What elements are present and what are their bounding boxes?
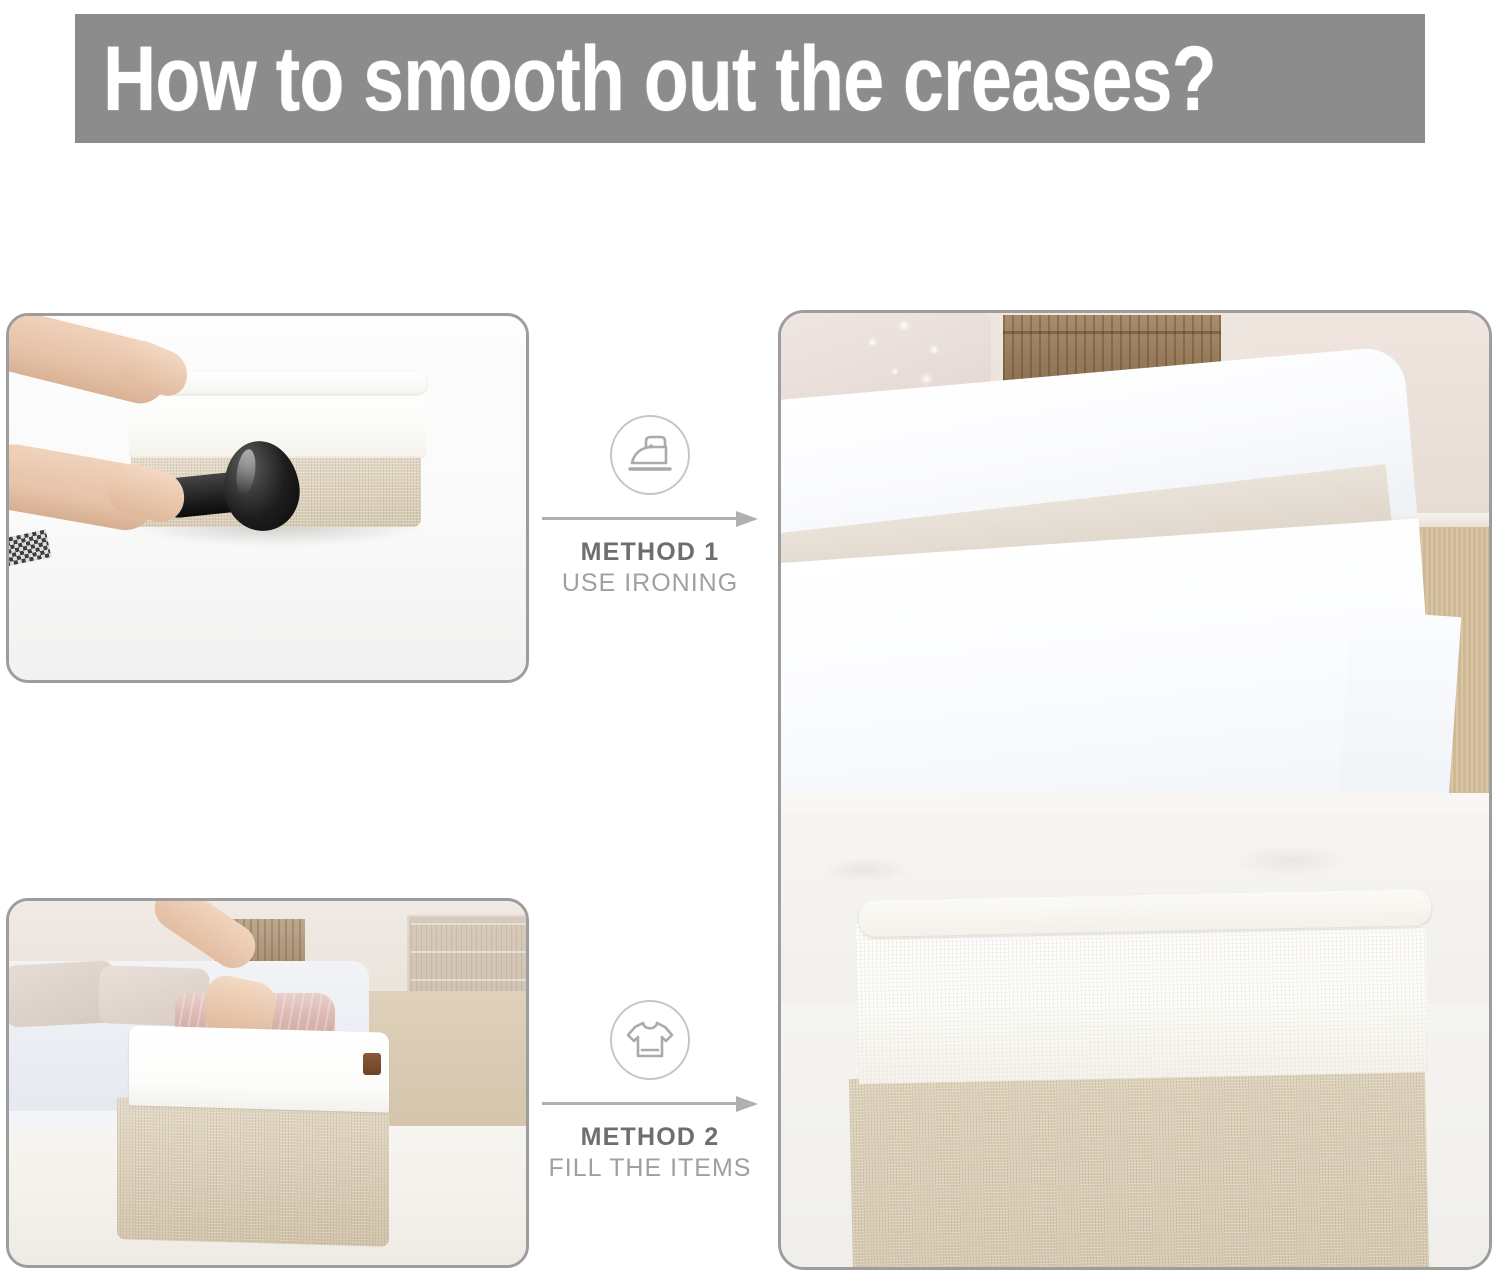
filling-scene (9, 901, 526, 1265)
arrow-head (736, 511, 758, 527)
method-2-subtitle: FILL THE ITEMS (535, 1153, 765, 1184)
page-title: How to smooth out the creases? (75, 33, 1216, 125)
basket-white-body (129, 1025, 389, 1112)
ironing-photo-panel (6, 313, 529, 683)
method-1-block: METHOD 1 USE IRONING (535, 415, 765, 600)
basket-beige-body (117, 1097, 389, 1247)
tshirt-icon (610, 1000, 690, 1080)
arrow-shaft (542, 1102, 738, 1105)
iron-icon (610, 415, 690, 495)
filling-photo-panel (6, 898, 529, 1268)
result-photo-panel (778, 310, 1492, 1270)
title-banner: How to smooth out the creases? (75, 14, 1425, 143)
method-2-block: METHOD 2 FILL THE ITEMS (535, 1000, 765, 1185)
method-2-title: METHOD 2 (535, 1122, 765, 1153)
arrow-head (736, 1096, 758, 1112)
ironing-scene (9, 316, 526, 680)
result-scene (781, 313, 1489, 1267)
nightstand-drawer-seam (1003, 331, 1221, 334)
checkered-cloth (6, 530, 51, 567)
basket-white-body (855, 912, 1428, 1084)
method-1-subtitle: USE IRONING (535, 568, 765, 599)
leather-tag (363, 1053, 381, 1075)
method-2-arrow (542, 1096, 758, 1110)
basket-beige-body (849, 1067, 1433, 1270)
method-1-title: METHOD 1 (535, 537, 765, 568)
method-1-arrow (542, 511, 758, 525)
arrow-shaft (542, 517, 738, 520)
